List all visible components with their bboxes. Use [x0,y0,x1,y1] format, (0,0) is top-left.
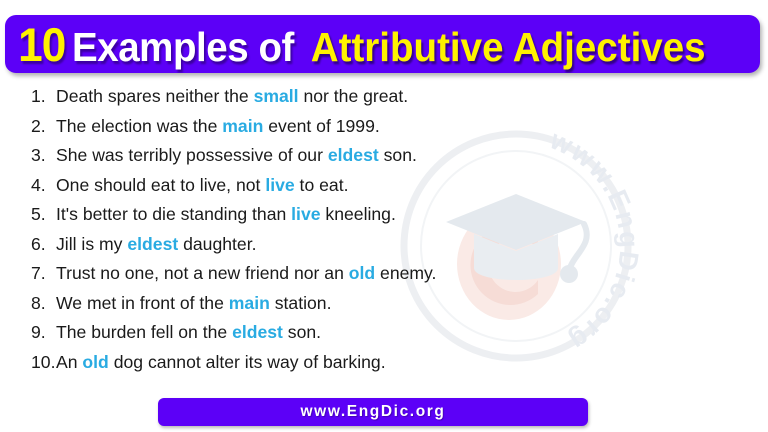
poster-canvas: www.EngDic.org 10Examples ofAttributive … [0,0,768,432]
highlighted-adjective: eldest [232,322,283,342]
list-item-number: 6. [31,234,56,255]
highlighted-adjective: eldest [127,234,178,254]
list-item-sentence: We met in front of the main station. [56,293,331,314]
sentence-after: station. [270,293,332,313]
sentence-before: Death spares neither the [56,86,254,106]
list-item: 8.We met in front of the main station. [0,293,768,323]
list-item-number: 10. [31,352,56,373]
highlighted-adjective: live [265,175,294,195]
sentence-after: to eat. [295,175,349,195]
list-item: 2.The election was the main event of 199… [0,116,768,146]
sentence-after: son. [379,145,417,165]
sentence-after: event of 1999. [263,116,379,136]
highlighted-adjective: main [229,293,270,313]
list-item-number: 7. [31,263,56,284]
sentence-after: dog cannot alter its way of barking. [109,352,386,372]
sentence-before: We met in front of the [56,293,229,313]
list-item-sentence: One should eat to live, not live to eat. [56,175,348,196]
sentence-after: daughter. [178,234,256,254]
list-item-sentence: Trust no one, not a new friend nor an ol… [56,263,436,284]
highlighted-adjective: main [222,116,263,136]
list-item: 4.One should eat to live, not live to ea… [0,175,768,205]
list-item-sentence: She was terribly possessive of our eldes… [56,145,417,166]
sentence-before: Trust no one, not a new friend nor an [56,263,349,283]
list-item-number: 4. [31,175,56,196]
list-item-sentence: An old dog cannot alter its way of barki… [56,352,386,373]
list-item: 6.Jill is my eldest daughter. [0,234,768,264]
list-item-number: 8. [31,293,56,314]
sentence-before: Jill is my [56,234,127,254]
sentence-after: nor the great. [299,86,409,106]
title-middle: Examples of [65,24,293,70]
footer-url-label: www.EngDic.org [301,403,446,421]
title-topic: Attributive Adjectives [294,24,706,70]
sentence-after: kneeling. [321,204,396,224]
list-item: 1.Death spares neither the small nor the… [0,86,768,116]
list-item: 5.It's better to die standing than live … [0,204,768,234]
sentence-after: enemy. [375,263,436,283]
sentence-before: The burden fell on the [56,322,232,342]
list-item-number: 1. [31,86,56,107]
list-item-sentence: The election was the main event of 1999. [56,116,380,137]
header-banner: 10Examples ofAttributive Adjectives [5,15,760,73]
title-count: 10 [18,18,65,71]
highlighted-adjective: small [254,86,299,106]
list-item-number: 2. [31,116,56,137]
sentence-after: son. [283,322,321,342]
sentence-before: The election was the [56,116,222,136]
list-item: 9.The burden fell on the eldest son. [0,322,768,352]
list-item: 3.She was terribly possessive of our eld… [0,145,768,175]
footer-url-badge[interactable]: www.EngDic.org [158,398,588,426]
list-item-sentence: It's better to die standing than live kn… [56,204,396,225]
list-item: 10.An old dog cannot alter its way of ba… [0,352,768,382]
highlighted-adjective: old [82,352,108,372]
sentence-before: An [56,352,82,372]
highlighted-adjective: live [291,204,320,224]
list-item-number: 5. [31,204,56,225]
page-title: 10Examples ofAttributive Adjectives [5,21,706,68]
sentence-before: It's better to die standing than [56,204,291,224]
list-item-number: 9. [31,322,56,343]
sentence-before: One should eat to live, not [56,175,265,195]
list-item-sentence: The burden fell on the eldest son. [56,322,321,343]
examples-list: 1.Death spares neither the small nor the… [0,86,768,381]
list-item-number: 3. [31,145,56,166]
list-item-sentence: Jill is my eldest daughter. [56,234,256,255]
list-item: 7.Trust no one, not a new friend nor an … [0,263,768,293]
highlighted-adjective: eldest [328,145,379,165]
sentence-before: She was terribly possessive of our [56,145,328,165]
highlighted-adjective: old [349,263,375,283]
list-item-sentence: Death spares neither the small nor the g… [56,86,408,107]
